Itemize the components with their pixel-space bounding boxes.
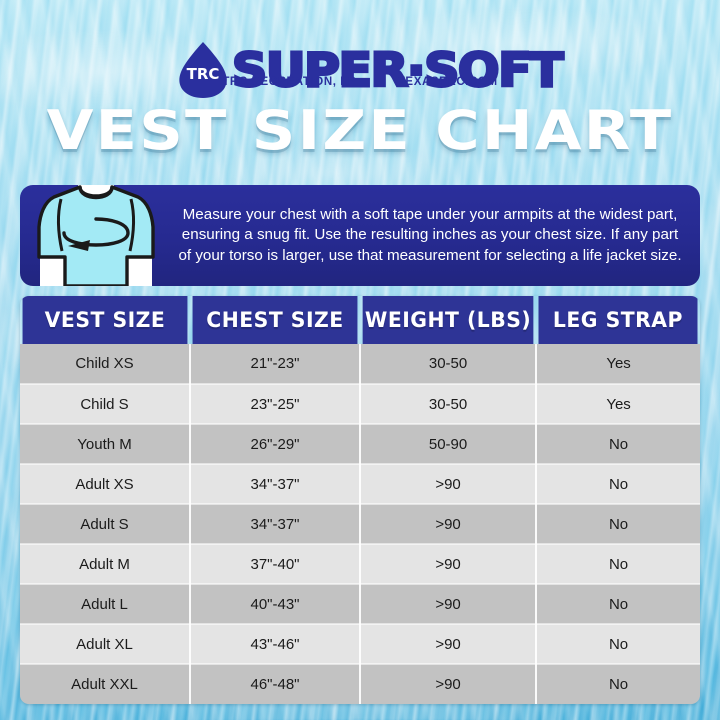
- table-row: Adult XS34"-37">90No: [20, 464, 700, 504]
- cell-vest-size: Adult L: [20, 584, 190, 624]
- page-title: VEST SIZE CHART: [0, 100, 720, 162]
- vest-size-chart-page: TRC SUPER·SOFT TRC RECREATION, LP TEXASR…: [0, 0, 720, 720]
- cell-vest-size: Adult XL: [20, 624, 190, 664]
- table-row: Adult S34"-37">90No: [20, 504, 700, 544]
- table-row: Adult M37"-40">90No: [20, 544, 700, 584]
- cell-weight: >90: [360, 504, 536, 544]
- table-row: Child XS21"-23"30-50Yes: [20, 344, 700, 384]
- cell-vest-size: Child S: [20, 384, 190, 424]
- table-row: Adult XXL46"-48">90No: [20, 664, 700, 704]
- cell-vest-size: Adult M: [20, 544, 190, 584]
- cell-chest-size: 34"-37": [190, 504, 360, 544]
- trc-water-drop-icon: TRC: [176, 41, 230, 99]
- cell-weight: >90: [360, 624, 536, 664]
- column-header-vest-size: VEST SIZE: [23, 296, 188, 344]
- cell-weight: >90: [360, 544, 536, 584]
- cell-chest-size: 26"-29": [190, 424, 360, 464]
- cell-weight: >90: [360, 584, 536, 624]
- cell-leg-strap: No: [536, 584, 700, 624]
- cell-chest-size: 40"-43": [190, 584, 360, 624]
- cell-leg-strap: No: [536, 424, 700, 464]
- cell-vest-size: Adult S: [20, 504, 190, 544]
- brand-subtitle: TRC RECREATION, LP TEXASREC.COM: [0, 76, 720, 88]
- cell-leg-strap: No: [536, 544, 700, 584]
- column-header-chest-size: CHEST SIZE: [193, 296, 358, 344]
- table-row: Child S23"-25"30-50Yes: [20, 384, 700, 424]
- cell-leg-strap: No: [536, 504, 700, 544]
- cell-weight: 30-50: [360, 384, 536, 424]
- cell-vest-size: Adult XS: [20, 464, 190, 504]
- cell-leg-strap: No: [536, 624, 700, 664]
- table-row: Adult L40"-43">90No: [20, 584, 700, 624]
- table-row: Youth M26"-29"50-90No: [20, 424, 700, 464]
- size-table: VEST SIZE CHEST SIZE WEIGHT (LBS) LEG ST…: [20, 296, 700, 704]
- company-name: TRC RECREATION, LP: [222, 76, 356, 88]
- cell-leg-strap: Yes: [536, 344, 700, 384]
- cell-weight: 50-90: [360, 424, 536, 464]
- cell-chest-size: 37"-40": [190, 544, 360, 584]
- cell-chest-size: 23"-25": [190, 384, 360, 424]
- cell-vest-size: Youth M: [20, 424, 190, 464]
- cell-chest-size: 34"-37": [190, 464, 360, 504]
- cell-weight: >90: [360, 664, 536, 704]
- cell-leg-strap: Yes: [536, 384, 700, 424]
- cell-vest-size: Adult XXL: [20, 664, 190, 704]
- cell-weight: 30-50: [360, 344, 536, 384]
- column-header-weight: WEIGHT (LBS): [363, 296, 534, 344]
- instructions-text-block: Measure your chest with a soft tape unde…: [172, 185, 700, 286]
- instructions-text: Measure your chest with a soft tape unde…: [176, 205, 684, 267]
- cell-leg-strap: No: [536, 664, 700, 704]
- cell-weight: >90: [360, 464, 536, 504]
- cell-vest-size: Child XS: [20, 344, 190, 384]
- column-header-leg-strap: LEG STRAP: [539, 296, 698, 344]
- table-body: Child XS21"-23"30-50YesChild S23"-25"30-…: [20, 344, 700, 704]
- cell-chest-size: 21"-23": [190, 344, 360, 384]
- chest-measurement-diagram-icon: [34, 185, 158, 286]
- cell-leg-strap: No: [536, 464, 700, 504]
- brand-logo: TRC SUPER·SOFT: [0, 36, 720, 104]
- website-url: TEXASREC.COM: [398, 76, 498, 88]
- cell-chest-size: 43"-46": [190, 624, 360, 664]
- measuring-instructions-panel: Measure your chest with a soft tape unde…: [20, 185, 700, 286]
- cell-chest-size: 46"-48": [190, 664, 360, 704]
- table-row: Adult XL43"-46">90No: [20, 624, 700, 664]
- table-header-row: VEST SIZE CHEST SIZE WEIGHT (LBS) LEG ST…: [20, 296, 700, 344]
- torso-illustration: [20, 185, 172, 286]
- vest-size-table: VEST SIZE CHEST SIZE WEIGHT (LBS) LEG ST…: [20, 296, 700, 704]
- table-header: VEST SIZE CHEST SIZE WEIGHT (LBS) LEG ST…: [20, 296, 700, 344]
